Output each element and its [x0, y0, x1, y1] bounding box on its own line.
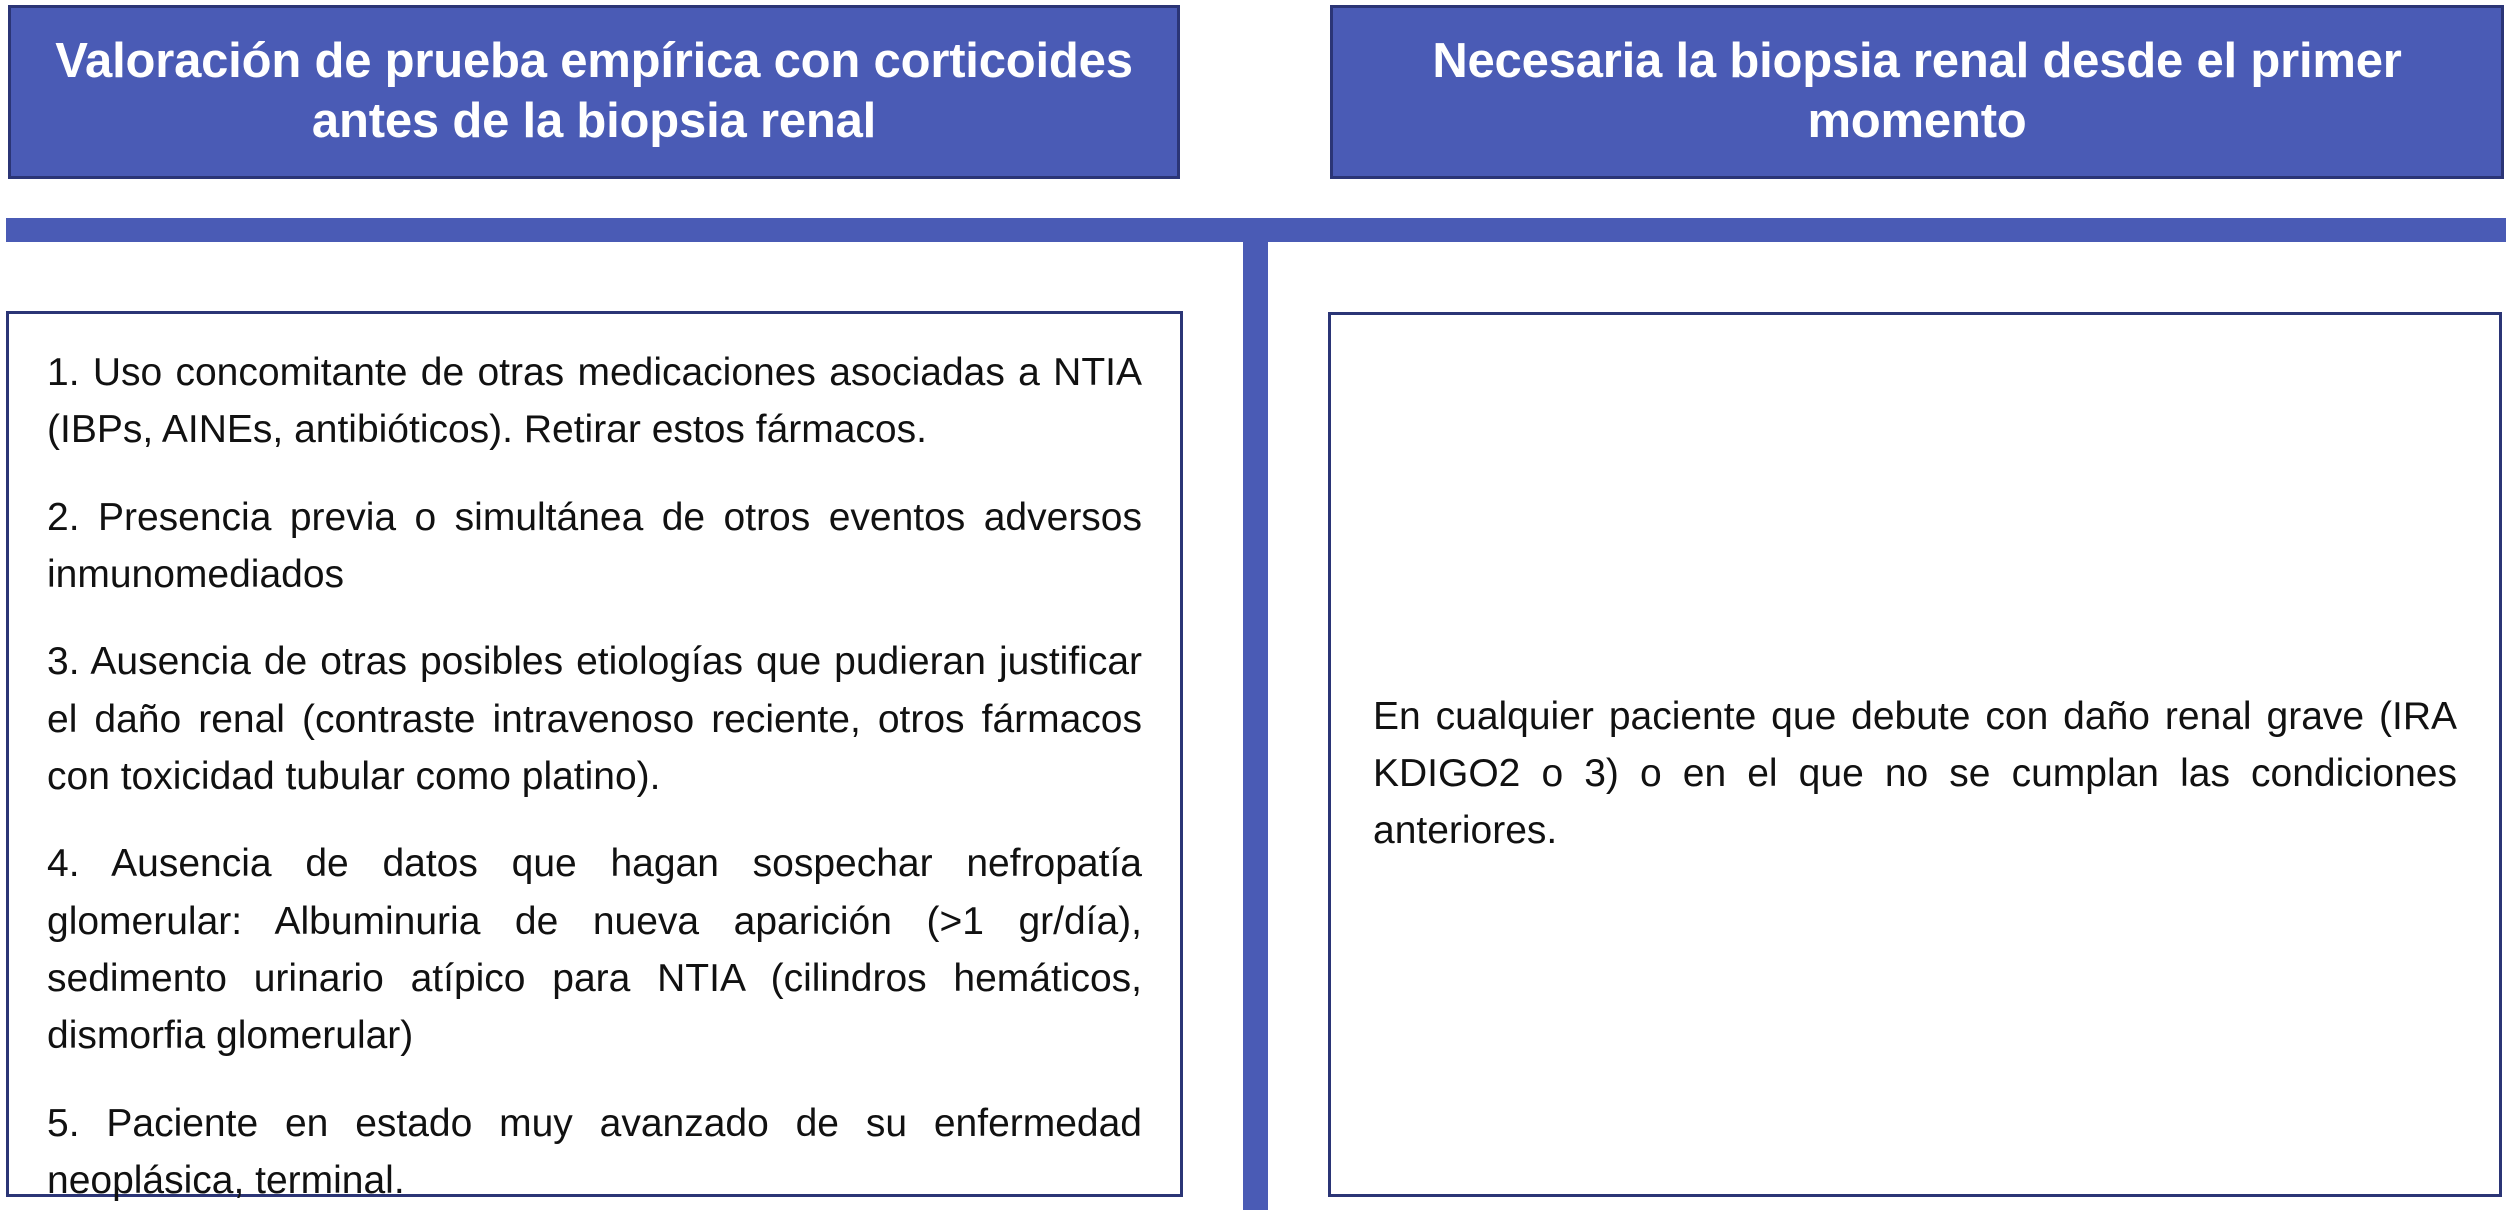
right-criteria-panel: En cualquier paciente que debute con dañ…: [1328, 312, 2502, 1197]
diagram-canvas: Valoración de prueba empírica con cortic…: [0, 0, 2508, 1221]
right-criteria-text: En cualquier paciente que debute con dañ…: [1373, 688, 2457, 860]
vertical-divider-bar: [1243, 240, 1268, 1210]
left-criteria-panel: 1. Uso concomitante de otras medicacione…: [6, 311, 1183, 1197]
list-item: 5. Paciente en estado muy avanzado de su…: [47, 1095, 1142, 1210]
list-item: 3. Ausencia de otras posibles etiologías…: [47, 633, 1142, 805]
list-item: 1. Uso concomitante de otras medicacione…: [47, 344, 1142, 459]
horizontal-divider-bar: [6, 218, 2506, 242]
left-criteria-list: 1. Uso concomitante de otras medicacione…: [47, 344, 1142, 1209]
list-item: 4. Ausencia de datos que hagan sospechar…: [47, 835, 1142, 1064]
right-column-header: Necesaria la biopsia renal desde el prim…: [1330, 5, 2504, 179]
right-column-header-text: Necesaria la biopsia renal desde el prim…: [1333, 32, 2501, 152]
left-column-header: Valoración de prueba empírica con cortic…: [8, 5, 1180, 179]
left-column-header-text: Valoración de prueba empírica con cortic…: [11, 32, 1177, 152]
list-item: 2. Presencia previa o simultánea de otro…: [47, 489, 1142, 604]
